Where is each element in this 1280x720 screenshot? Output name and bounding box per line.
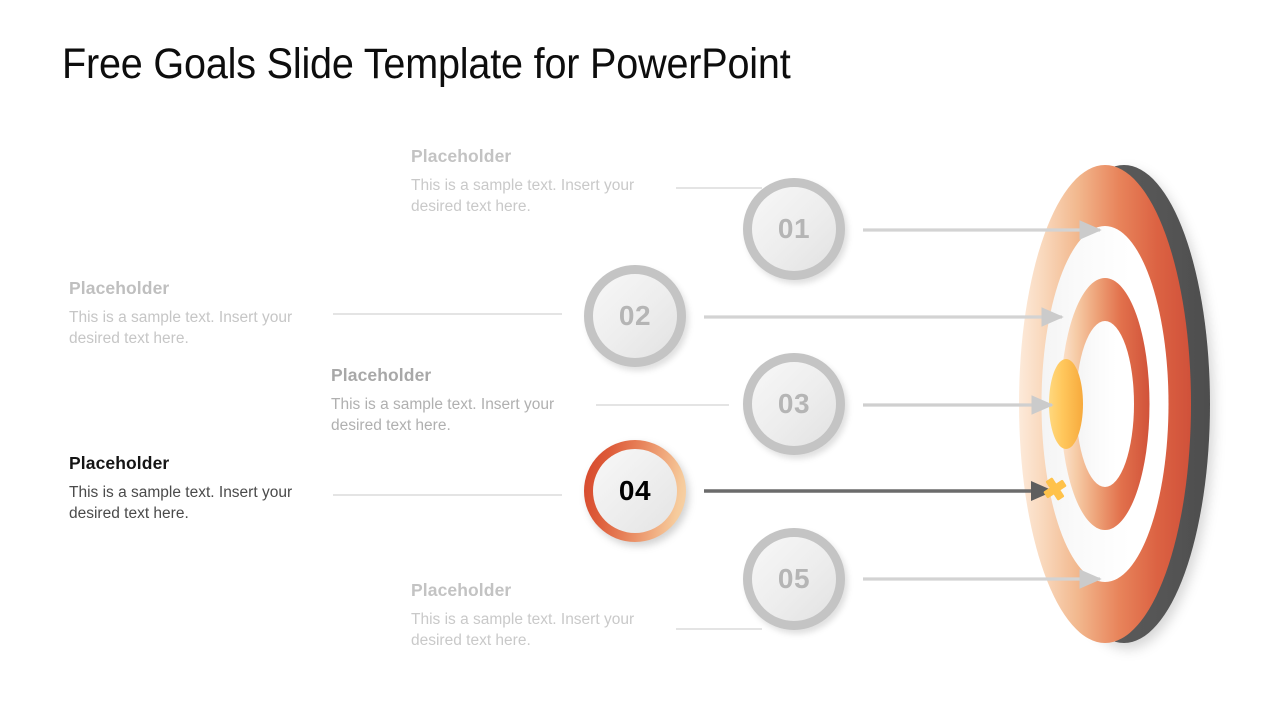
step-heading-01: Placeholder bbox=[411, 146, 661, 167]
step-number-01: 01 bbox=[778, 215, 810, 243]
step-text-01: Placeholder This is a sample text. Inser… bbox=[411, 146, 661, 217]
step-number-02: 02 bbox=[619, 302, 651, 330]
page-title: Free Goals Slide Template for PowerPoint bbox=[62, 40, 791, 88]
target-depth-side bbox=[1038, 165, 1210, 643]
step-number-05: 05 bbox=[778, 565, 810, 593]
target-ring-inner bbox=[1061, 278, 1150, 530]
step-text-04: Placeholder This is a sample text. Inser… bbox=[69, 453, 319, 524]
target-ring-gap-2 bbox=[1076, 321, 1134, 487]
step-number-03: 03 bbox=[778, 390, 810, 418]
step-body-01: This is a sample text. Insert your desir… bbox=[411, 176, 661, 217]
step-circle-05[interactable]: 05 bbox=[743, 528, 845, 630]
step-number-04: 04 bbox=[619, 477, 651, 505]
slide-canvas: Free Goals Slide Template for PowerPoint bbox=[0, 0, 1280, 720]
step-body-03: This is a sample text. Insert your desir… bbox=[331, 395, 581, 436]
step-body-04: This is a sample text. Insert your desir… bbox=[69, 483, 319, 524]
step-text-03: Placeholder This is a sample text. Inser… bbox=[331, 365, 581, 436]
step-heading-02: Placeholder bbox=[69, 278, 319, 299]
target-ring-outer bbox=[1019, 165, 1191, 643]
step-circle-04[interactable]: 04 bbox=[584, 440, 686, 542]
step-text-02: Placeholder This is a sample text. Inser… bbox=[69, 278, 319, 349]
step-circle-02[interactable]: 02 bbox=[584, 265, 686, 367]
x-marker-icon bbox=[1042, 476, 1068, 502]
step-body-02: This is a sample text. Insert your desir… bbox=[69, 308, 319, 349]
step-heading-04: Placeholder bbox=[69, 453, 319, 474]
step-heading-05: Placeholder bbox=[411, 580, 661, 601]
step-circle-01[interactable]: 01 bbox=[743, 178, 845, 280]
step-body-05: This is a sample text. Insert your desir… bbox=[411, 610, 661, 651]
step-text-05: Placeholder This is a sample text. Inser… bbox=[411, 580, 661, 651]
step-heading-03: Placeholder bbox=[331, 365, 581, 386]
bullseye-target bbox=[1019, 165, 1210, 643]
step-circle-03[interactable]: 03 bbox=[743, 353, 845, 455]
target-ring-gap-1 bbox=[1042, 226, 1169, 582]
target-bullseye bbox=[1049, 359, 1083, 449]
